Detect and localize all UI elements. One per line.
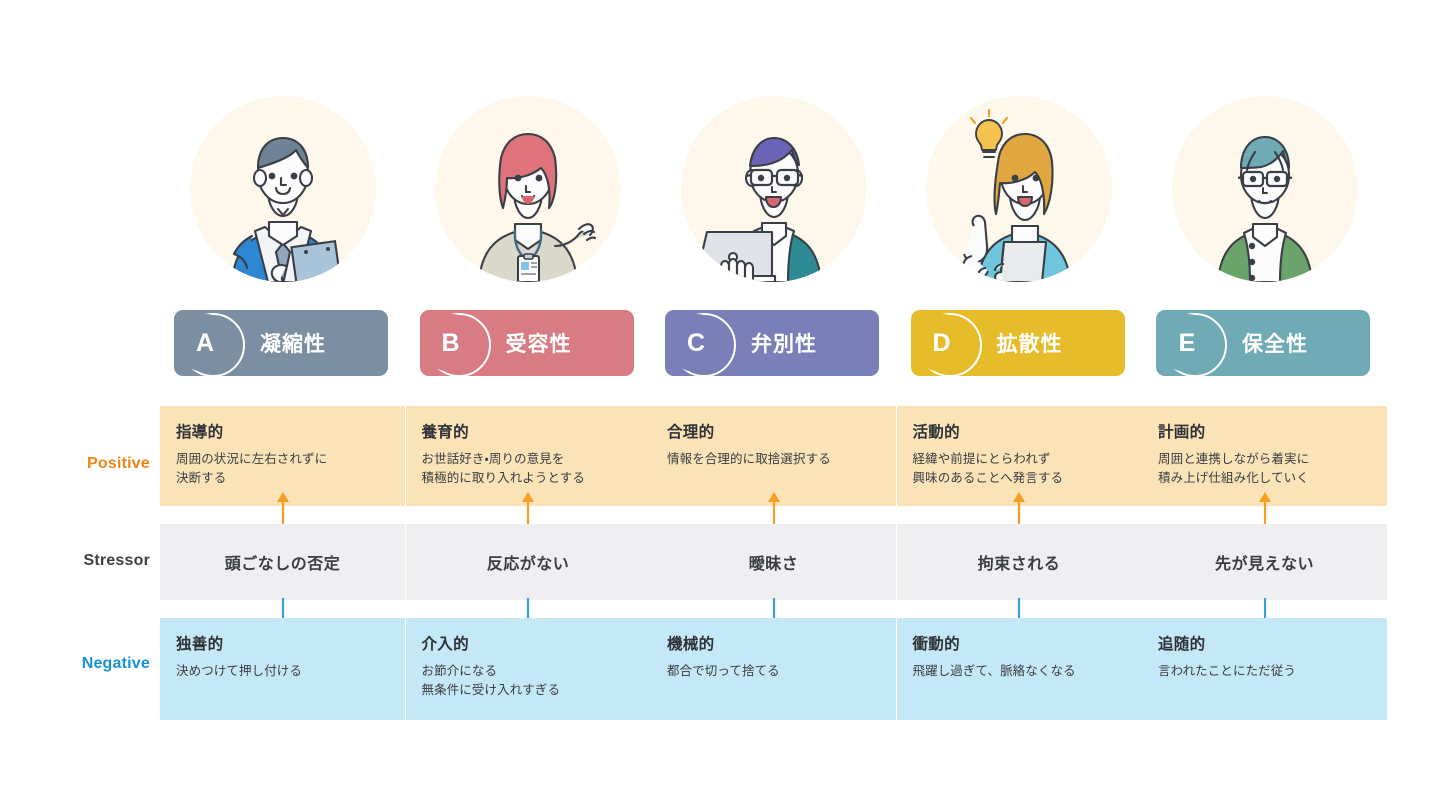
positive-desc-line: 積み上げ仕組み化していく [1158,469,1371,488]
positive-cell: 計画的 周囲と連携しながら着実に積み上げ仕組み化していく [1142,406,1387,506]
type-letter-disc: A [176,312,238,374]
positive-desc-line: 情報を合理的に取捨選択する [667,450,880,469]
negative-cell: 衝動的 飛躍し過ぎて、脈絡なくなる [897,618,1142,720]
type-column-a: A 凝縮性 指導的 周囲の状況に左右されずに決断する 頭ごなしの否定 独善的 決… [160,0,405,810]
negative-cell: 独善的 決めつけて押し付ける [160,618,405,720]
negative-title: 追随的 [1158,632,1371,654]
positive-title: 活動的 [913,420,1126,442]
negative-desc-line: 決めつけて押し付ける [176,662,389,681]
positive-desc-line: 積極的に取り入れようとする [422,469,635,488]
positive-desc-line: 興味のあることへ発言する [913,469,1126,488]
positive-desc-line: 周囲の状況に左右されずに [176,450,389,469]
type-column-d: D 拡散性 活動的 経緯や前提にとらわれず興味のあることへ発言する 拘束される … [897,0,1142,810]
negative-desc-line: 都合で切って捨てる [667,662,880,681]
positive-cell: 指導的 周囲の状況に左右されずに決断する [160,406,405,506]
avatar [435,96,621,282]
positive-desc-line: 周囲と連携しながら着実に [1158,450,1371,469]
negative-desc: お節介になる無条件に受け入れすぎる [422,662,635,701]
type-letter-disc: D [913,312,975,374]
stressor-text: 曖昧さ [749,550,799,574]
stressor-cell: 頭ごなしの否定 [160,524,405,600]
positive-desc-line: 決断する [176,469,389,488]
row-label-negative: Negative [0,655,150,673]
positive-desc: 周囲の状況に左右されずに決断する [176,450,389,489]
type-pill-e[interactable]: E 保全性 [1156,310,1370,376]
arrow-up-icon [275,492,291,526]
avatar [190,96,376,282]
type-pill-c[interactable]: C 弁別性 [665,310,879,376]
positive-desc: 周囲と連携しながら着実に積み上げ仕組み化していく [1158,450,1371,489]
type-letter-disc: B [422,312,484,374]
positive-desc-line: 経緯や前提にとらわれず [913,450,1126,469]
type-pill-a[interactable]: A 凝縮性 [174,310,388,376]
type-column-c: C 弁別性 合理的 情報を合理的に取捨選択する 曖昧さ 機械的 都合で切って捨て… [651,0,896,810]
negative-title: 衝動的 [913,632,1126,654]
avatar-woman-lanyard [435,96,621,282]
stressor-text: 先が見えない [1215,550,1314,574]
type-letter: A [196,331,214,356]
avatar [681,96,867,282]
type-name: 拡散性 [997,328,1063,358]
stressor-cell: 拘束される [897,524,1142,600]
negative-desc-line: お節介になる [422,662,635,681]
negative-desc: 決めつけて押し付ける [176,662,389,681]
negative-desc-line: 言われたことにただ従う [1158,662,1371,681]
positive-cell: 合理的 情報を合理的に取捨選択する [651,406,896,506]
type-letter: D [932,331,950,356]
stressor-text: 反応がない [487,550,570,574]
positive-title: 養育的 [422,420,635,442]
positive-cell: 養育的 お世話好き・周りの意見を積極的に取り入れようとする [406,406,651,506]
type-name: 弁別性 [751,328,817,358]
negative-title: 介入的 [422,632,635,654]
type-letter-disc: E [1158,312,1220,374]
positive-title: 合理的 [667,420,880,442]
arrow-up-icon [520,492,536,526]
positive-desc: 経緯や前提にとらわれず興味のあることへ発言する [913,450,1126,489]
type-name: 保全性 [1242,328,1308,358]
type-name: 凝縮性 [260,328,326,358]
type-letter: B [441,331,459,356]
stressor-text: 拘束される [978,550,1061,574]
negative-title: 独善的 [176,632,389,654]
row-label-positive: Positive [0,455,150,473]
stressor-cell: 反応がない [406,524,651,600]
arrow-up-icon [766,492,782,526]
positive-desc: 情報を合理的に取捨選択する [667,450,880,469]
arrow-up-icon [1011,492,1027,526]
infographic-canvas: Positive Stressor Negative [0,0,1440,810]
avatar-person-green-cardigan [1172,96,1358,282]
avatar [926,96,1112,282]
negative-cell: 機械的 都合で切って捨てる [651,618,896,720]
stressor-cell: 曖昧さ [651,524,896,600]
positive-cell: 活動的 経緯や前提にとらわれず興味のあることへ発言する [897,406,1142,506]
type-column-b: B 受容性 養育的 お世話好き・周りの意見を積極的に取り入れようとする 反応がな… [406,0,651,810]
row-label-stressor: Stressor [0,552,150,570]
avatar-man-laptop [681,96,867,282]
negative-desc-line: 飛躍し過ぎて、脈絡なくなる [913,662,1126,681]
positive-title: 指導的 [176,420,389,442]
negative-title: 機械的 [667,632,880,654]
negative-cell: 追随的 言われたことにただ従う [1142,618,1387,720]
type-pill-b[interactable]: B 受容性 [420,310,634,376]
type-letter: E [1179,331,1196,356]
type-pill-d[interactable]: D 拡散性 [911,310,1125,376]
stressor-cell: 先が見えない [1142,524,1387,600]
arrow-up-icon [1257,492,1273,526]
positive-desc: お世話好き・周りの意見を積極的に取り入れようとする [422,450,635,489]
negative-desc: 言われたことにただ従う [1158,662,1371,681]
type-name: 受容性 [506,328,572,358]
negative-desc: 飛躍し過ぎて、脈絡なくなる [913,662,1126,681]
type-letter-disc: C [667,312,729,374]
positive-desc-line: お世話好き・周りの意見を [422,450,635,469]
negative-desc-line: 無条件に受け入れすぎる [422,681,635,700]
negative-cell: 介入的 お節介になる無条件に受け入れすぎる [406,618,651,720]
type-column-e: E 保全性 計画的 周囲と連携しながら着実に積み上げ仕組み化していく 先が見えな… [1142,0,1387,810]
avatar-woman-idea-bulb [926,96,1112,282]
stressor-text: 頭ごなしの否定 [225,550,341,574]
avatar [1172,96,1358,282]
positive-title: 計画的 [1158,420,1371,442]
avatar-businessman-clipboard [190,96,376,282]
negative-desc: 都合で切って捨てる [667,662,880,681]
type-letter: C [687,331,705,356]
